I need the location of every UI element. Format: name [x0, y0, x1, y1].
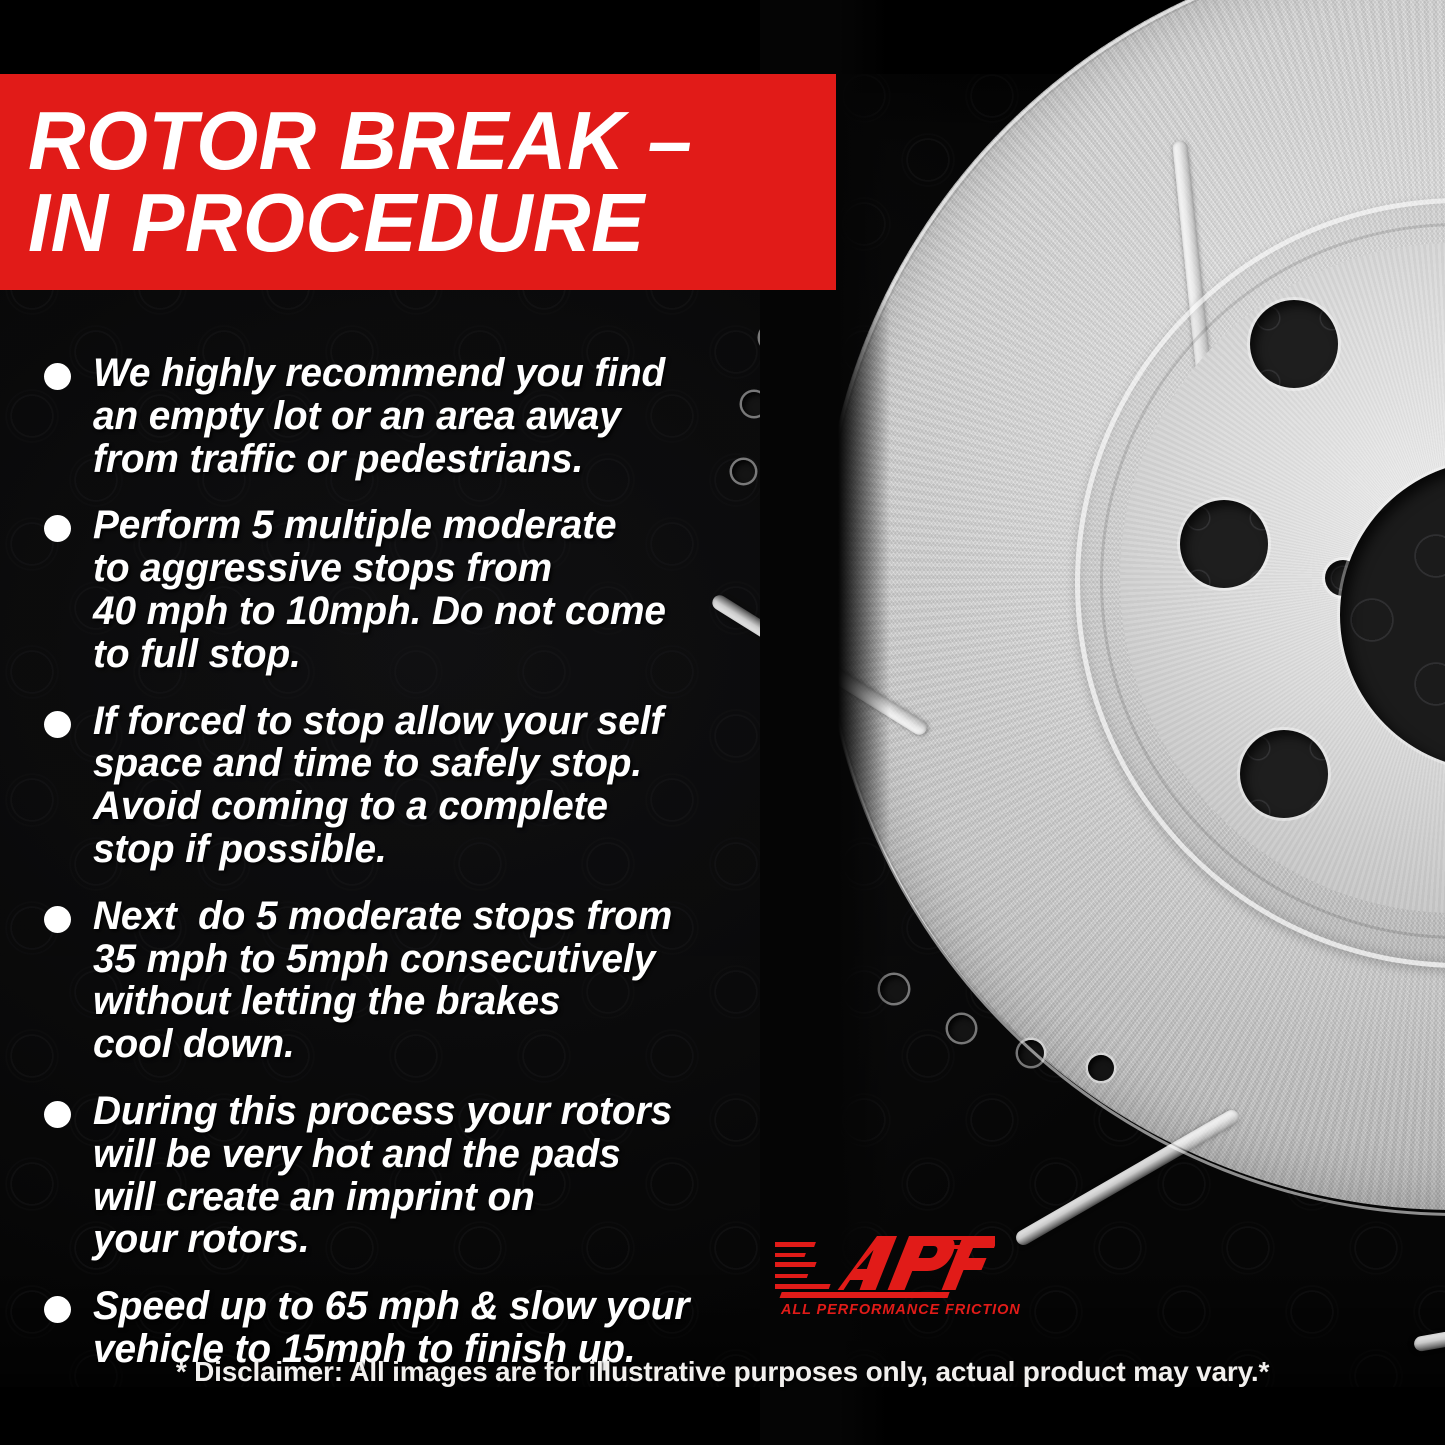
list-item-text: If forced to stop allow your self space …	[93, 700, 663, 871]
instruction-list: We highly recommend you find an empty lo…	[44, 352, 774, 1395]
bullet-dot-icon	[44, 515, 71, 542]
apf-logo-tagline: ALL PERFORMANCE FRICTION	[781, 1302, 995, 1318]
list-item-text: Perform 5 multiple moderate to aggressiv…	[93, 504, 666, 675]
list-item-text: During this process your rotors will be …	[93, 1090, 672, 1261]
bullet-dot-icon	[44, 906, 71, 933]
background-top-bar	[0, 0, 1445, 74]
bullet-dot-icon	[44, 1296, 71, 1323]
title-banner: ROTOR BREAK – IN PROCEDURE	[0, 74, 836, 290]
poster-canvas: ROTOR BREAK – IN PROCEDURE We highly rec…	[0, 0, 1445, 1445]
page-title-line-1: ROTOR BREAK –	[28, 100, 804, 182]
list-item: If forced to stop allow your self space …	[44, 700, 774, 871]
list-item-text: Next do 5 moderate stops from 35 mph to …	[93, 895, 672, 1066]
list-item: During this process your rotors will be …	[44, 1090, 774, 1261]
bullet-dot-icon	[44, 711, 71, 738]
bullet-dot-icon	[44, 363, 71, 390]
page-title-line-2: IN PROCEDURE	[28, 182, 804, 264]
list-item: We highly recommend you find an empty lo…	[44, 352, 774, 480]
disclaimer-text: * Disclaimer: All images are for illustr…	[0, 1356, 1445, 1388]
list-item: Perform 5 multiple moderate to aggressiv…	[44, 504, 774, 675]
list-item-text: We highly recommend you find an empty lo…	[93, 352, 665, 480]
apf-logo-mark-icon	[775, 1228, 995, 1300]
list-item: Next do 5 moderate stops from 35 mph to …	[44, 895, 774, 1066]
bullet-dot-icon	[44, 1101, 71, 1128]
background-bottom-bar	[0, 1387, 1445, 1445]
apf-logo: ALL PERFORMANCE FRICTION	[775, 1228, 995, 1328]
